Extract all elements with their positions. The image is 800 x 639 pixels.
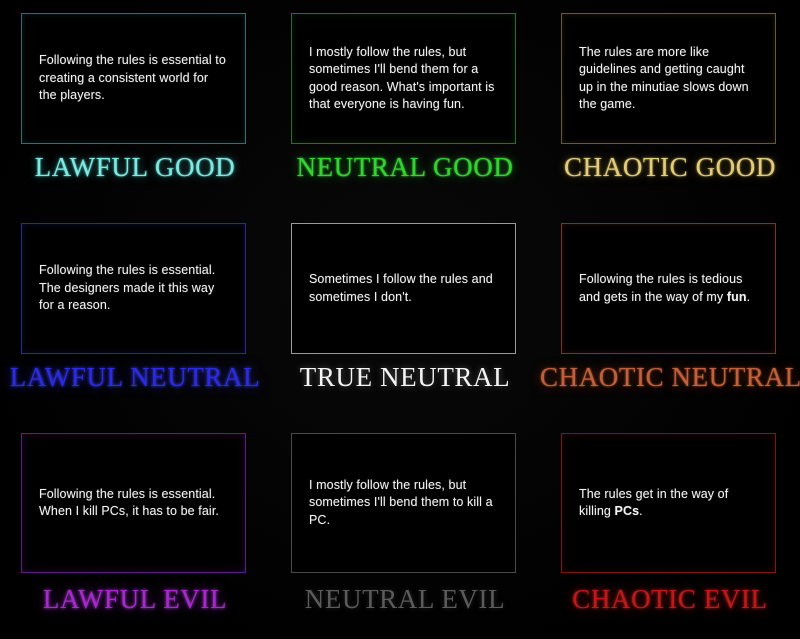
alignment-cell-lawful-neutral: Following the rules is essential. The de…: [0, 210, 270, 420]
quote-segment-plain: Following the rules is tedious and gets …: [579, 272, 743, 304]
alignment-cell-true-neutral: Sometimes I follow the rules and sometim…: [270, 210, 540, 420]
quote-text-chaotic-neutral: Following the rules is tedious and gets …: [562, 271, 775, 306]
alignment-label-chaotic-good: CHAOTIC GOOD: [540, 153, 800, 181]
alignment-label-true-neutral: TRUE NEUTRAL: [270, 363, 540, 391]
quote-panel-true-neutral: Sometimes I follow the rules and sometim…: [291, 223, 516, 354]
alignment-cell-neutral-good: I mostly follow the rules, but sometimes…: [270, 0, 540, 210]
quote-segment-tail: .: [639, 504, 643, 518]
quote-text-true-neutral: Sometimes I follow the rules and sometim…: [292, 271, 515, 306]
quote-panel-chaotic-good: The rules are more like guidelines and g…: [561, 13, 776, 144]
alignment-cell-chaotic-evil: The rules get in the way of killing PCs.…: [540, 420, 800, 639]
alignment-label-chaotic-neutral: CHAOTIC NEUTRAL: [540, 363, 800, 391]
quote-text-lawful-evil: Following the rules is essential. When I…: [22, 486, 245, 521]
quote-text-neutral-evil: I mostly follow the rules, but sometimes…: [292, 477, 515, 530]
quote-text-lawful-neutral: Following the rules is essential. The de…: [22, 262, 245, 315]
quote-segment-emphasis: fun: [727, 290, 747, 304]
quote-panel-lawful-neutral: Following the rules is essential. The de…: [21, 223, 246, 354]
alignment-cell-chaotic-neutral: Following the rules is tedious and gets …: [540, 210, 800, 420]
quote-panel-neutral-evil: I mostly follow the rules, but sometimes…: [291, 433, 516, 573]
quote-text-lawful-good: Following the rules is essential to crea…: [22, 52, 245, 105]
quote-segment-tail: .: [747, 290, 751, 304]
quote-segment-emphasis: PCs: [615, 504, 640, 518]
alignment-cell-neutral-evil: I mostly follow the rules, but sometimes…: [270, 420, 540, 639]
quote-panel-neutral-good: I mostly follow the rules, but sometimes…: [291, 13, 516, 144]
alignment-label-lawful-evil: LAWFUL EVIL: [0, 585, 270, 613]
alignment-cell-lawful-good: Following the rules is essential to crea…: [0, 0, 270, 210]
quote-text-neutral-good: I mostly follow the rules, but sometimes…: [292, 44, 515, 114]
alignment-label-lawful-neutral: LAWFUL NEUTRAL: [0, 363, 270, 391]
alignment-label-neutral-evil: NEUTRAL EVIL: [270, 585, 540, 613]
alignment-label-chaotic-evil: CHAOTIC EVIL: [540, 585, 800, 613]
quote-panel-chaotic-evil: The rules get in the way of killing PCs.: [561, 433, 776, 573]
alignment-chart-grid: Following the rules is essential to crea…: [0, 0, 800, 639]
quote-panel-lawful-evil: Following the rules is essential. When I…: [21, 433, 246, 573]
quote-panel-chaotic-neutral: Following the rules is tedious and gets …: [561, 223, 776, 354]
quote-segment-plain: The rules get in the way of killing: [579, 487, 728, 519]
alignment-label-lawful-good: LAWFUL GOOD: [0, 153, 270, 181]
quote-text-chaotic-good: The rules are more like guidelines and g…: [562, 44, 775, 114]
alignment-label-neutral-good: NEUTRAL GOOD: [270, 153, 540, 181]
alignment-cell-chaotic-good: The rules are more like guidelines and g…: [540, 0, 800, 210]
quote-panel-lawful-good: Following the rules is essential to crea…: [21, 13, 246, 144]
alignment-cell-lawful-evil: Following the rules is essential. When I…: [0, 420, 270, 639]
quote-text-chaotic-evil: The rules get in the way of killing PCs.: [562, 486, 775, 521]
